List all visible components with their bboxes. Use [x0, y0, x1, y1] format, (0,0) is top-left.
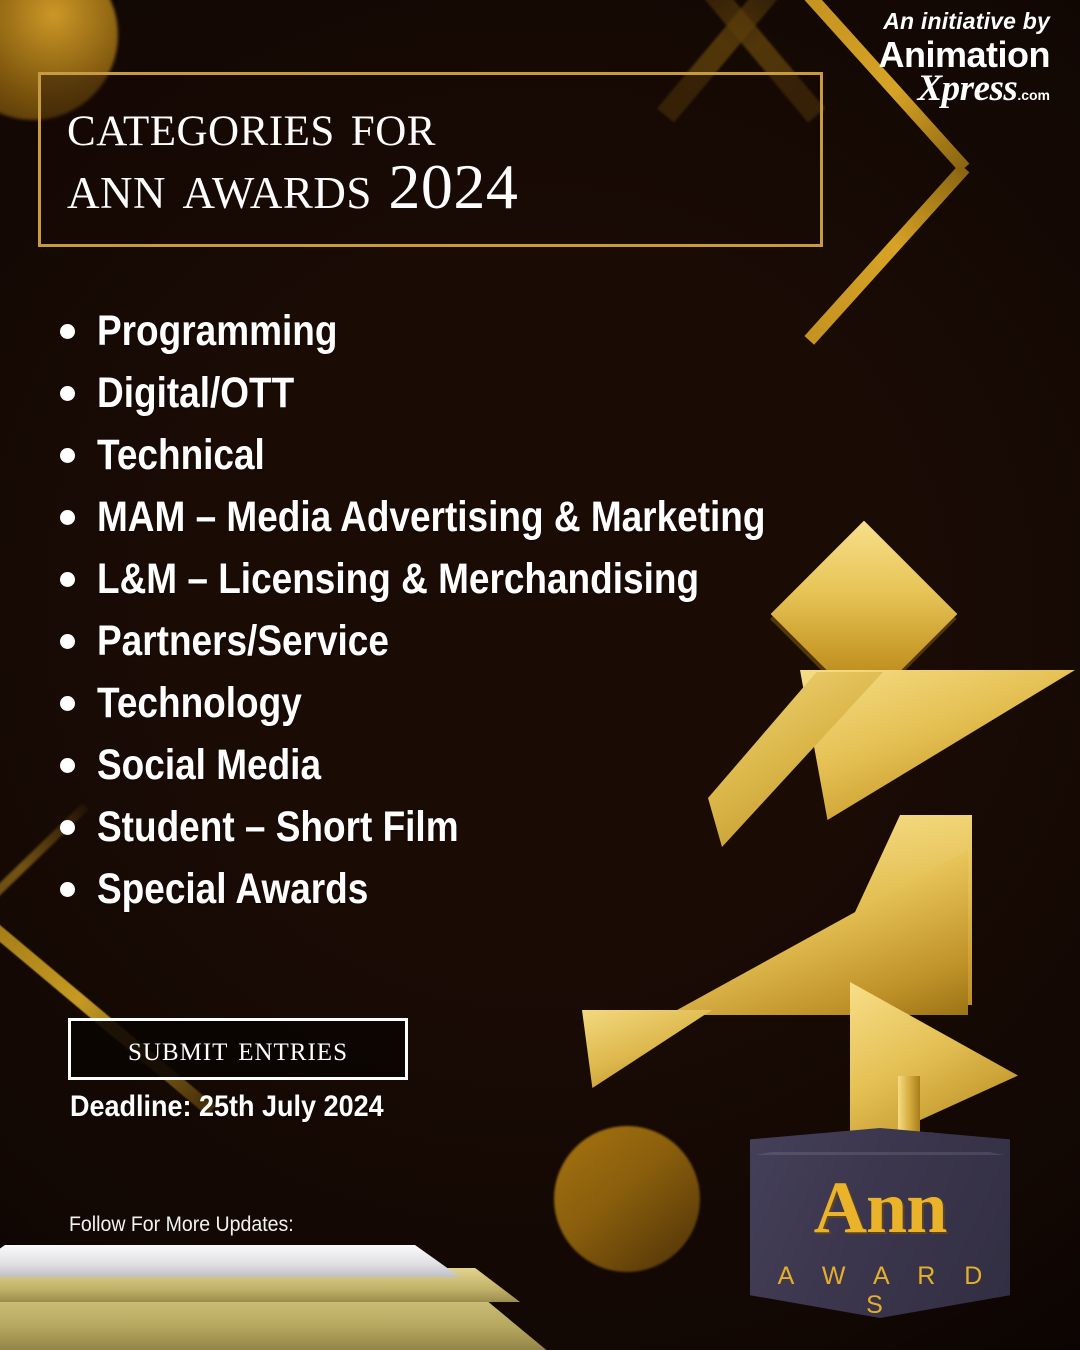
bullet-icon	[60, 448, 75, 463]
category-label: Partners/Service	[97, 620, 389, 663]
bullet-icon	[60, 572, 75, 587]
list-item: Digital/OTT	[60, 362, 830, 424]
follow-label: Follow For More Updates:	[69, 1213, 294, 1237]
deadline-text: Deadline: 25th July 2024	[70, 1090, 384, 1124]
category-label: Technology	[97, 682, 302, 725]
bullet-icon	[60, 386, 75, 401]
brand-name-row: Xpress.com	[879, 70, 1051, 107]
chevron-decoration-right	[866, 168, 1080, 488]
submit-entries-button[interactable]: Submit Entries	[68, 1018, 408, 1080]
trophy-foot-left-shard	[582, 1010, 712, 1088]
page-title-line1: Categories for	[67, 95, 820, 156]
brand-tld: .com	[1017, 87, 1050, 103]
trophy-base-highlight	[756, 1152, 1004, 1155]
trophy-base-subtitle: A W A R D S	[752, 1262, 1008, 1320]
animationxpress-logo: An initiative by Animation Xpress.com	[879, 10, 1051, 107]
bullet-icon	[60, 634, 75, 649]
category-label: Programming	[97, 310, 337, 353]
bullet-icon	[60, 324, 75, 339]
list-item: Technical	[60, 424, 830, 486]
pedestal-white-plate	[0, 1245, 460, 1277]
page-title-box: Categories for ANN Awards 2024	[38, 72, 823, 247]
submit-entries-label: Submit Entries	[128, 1029, 348, 1069]
bullet-icon	[60, 696, 75, 711]
category-label: Special Awards	[97, 868, 368, 911]
category-label: Technical	[97, 434, 265, 477]
ann-awards-poster: An initiative by Animation Xpress.com Ca…	[0, 0, 1080, 1350]
trophy-base-brand: Ann	[752, 1178, 1008, 1239]
bullet-icon	[60, 820, 75, 835]
bullet-icon	[60, 758, 75, 773]
brand-name-secondary: Xpress	[918, 68, 1018, 109]
initiative-label: An initiative by	[879, 10, 1051, 33]
bullet-icon	[60, 510, 75, 525]
bullet-icon	[60, 882, 75, 897]
page-title-line2: ANN Awards 2024	[67, 156, 820, 219]
list-item: Programming	[60, 300, 830, 362]
trophy-thigh-shard	[668, 850, 968, 1015]
pedestal-gold-lower	[0, 1295, 550, 1350]
category-label: Digital/OTT	[97, 372, 294, 415]
category-label: Social Media	[97, 744, 321, 787]
category-label: Student – Short Film	[97, 806, 459, 849]
